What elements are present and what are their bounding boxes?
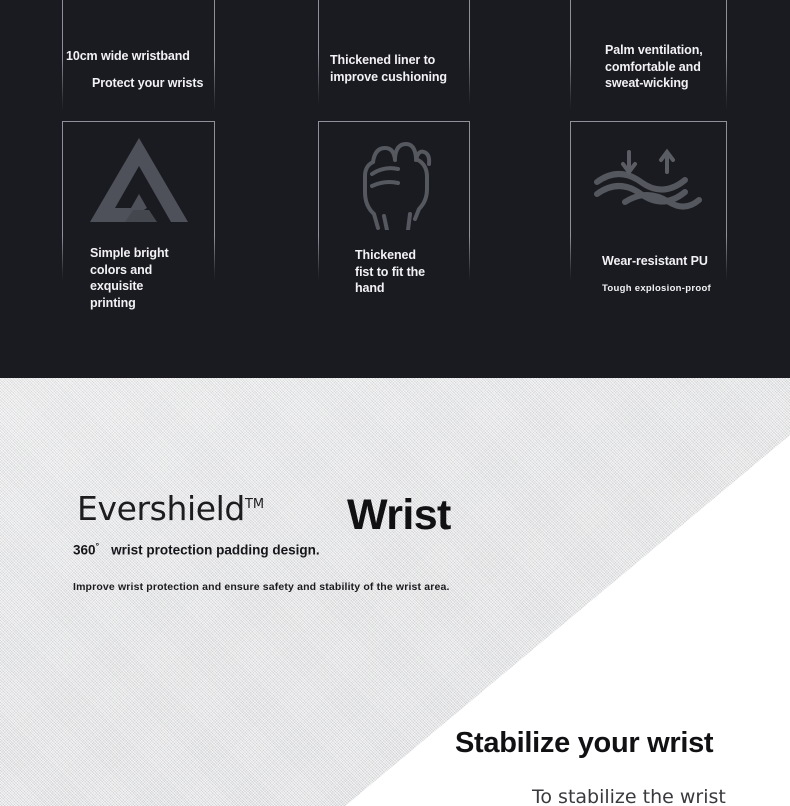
- wrist-heading: Wrist: [347, 491, 451, 540]
- brand-tm: TM: [245, 497, 264, 512]
- stabilize-subheading: To stabilize the wrist: [532, 786, 726, 806]
- stabilize-heading: Stabilize your wrist: [455, 727, 713, 760]
- elastic-waves-icon: [570, 126, 727, 234]
- feature-caption: Thickened fist to fit the hand: [355, 247, 505, 297]
- triangle-logo-icon: [62, 126, 215, 234]
- product-detail-page: 10cm wide wristband Protect your wrists …: [0, 0, 790, 806]
- feature-caption: Thickened liner to improve cushioning: [330, 52, 510, 85]
- feature-subcaption: Tough explosion-proof: [602, 283, 782, 296]
- brand-tagline-number: 360: [73, 543, 96, 558]
- feature-caption: Palm ventilation, comfortable and sweat-…: [605, 42, 785, 92]
- feature-caption: 10cm wide wristband: [66, 48, 236, 65]
- palm-ventilation-icon: [570, 0, 727, 20]
- brand-note: Improve wrist protection and ensure safe…: [73, 581, 450, 593]
- fist-icon: [318, 126, 470, 234]
- brand-name: Evershield: [77, 489, 245, 528]
- feature-caption: Simple bright colors and exquisite print…: [90, 245, 240, 311]
- feature-subcaption: Protect your wrists: [92, 75, 272, 92]
- degree-symbol: °: [96, 541, 100, 551]
- dark-feature-section: 10cm wide wristband Protect your wrists …: [0, 0, 790, 378]
- feature-caption: Wear-resistant PU: [602, 253, 782, 270]
- brand-tagline-text: wrist protection padding design.: [111, 543, 320, 558]
- liner-cushion-icon: [318, 0, 470, 16]
- wristband-icon: [62, 0, 215, 32]
- brand-tagline: 360°wrist protection padding design.: [73, 541, 373, 559]
- brand-logo: EvershieldTM: [77, 489, 264, 528]
